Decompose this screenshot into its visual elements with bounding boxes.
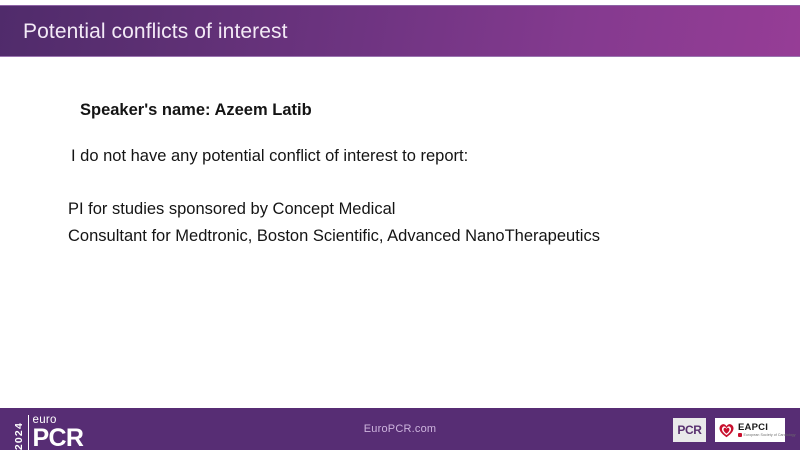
logo-year-label: 2024 [14,420,25,450]
eapci-subtitle-row: European Society of Cardiology [738,433,796,437]
slide-header-bar: Potential conflicts of interest [0,5,800,57]
eapci-badge: EAPCI European Society of Cardiology [715,418,785,442]
eapci-badge-label: EAPCI [738,423,796,433]
europcr-logo: 2024 euro PCR [14,409,83,450]
esc-mark-icon [738,433,742,437]
conflict-declaration-line: I do not have any potential conflict of … [71,147,468,166]
eapci-text-block: EAPCI European Society of Cardiology [738,423,796,438]
slide-body: Speaker's name: Azeem Latib I do not hav… [0,58,800,408]
page-title: Potential conflicts of interest [0,21,288,42]
pcr-badge: PCR [673,418,706,442]
disclosure-list: PI for studies sponsored by Concept Medi… [68,196,600,250]
eapci-subtitle: European Society of Cardiology [744,434,796,438]
logo-wordmark: euro PCR [28,415,84,451]
footer-partner-logos: PCR EAPCI European Society of Cardiology [673,418,785,442]
list-item: PI for studies sponsored by Concept Medi… [68,196,600,223]
heart-icon [718,422,735,439]
slide: Potential conflicts of interest Speaker'… [0,0,800,450]
logo-pcr-label: PCR [33,427,84,450]
list-item: Consultant for Medtronic, Boston Scienti… [68,223,600,250]
pcr-badge-label: PCR [677,424,701,436]
speaker-name-line: Speaker's name: Azeem Latib [80,101,312,120]
